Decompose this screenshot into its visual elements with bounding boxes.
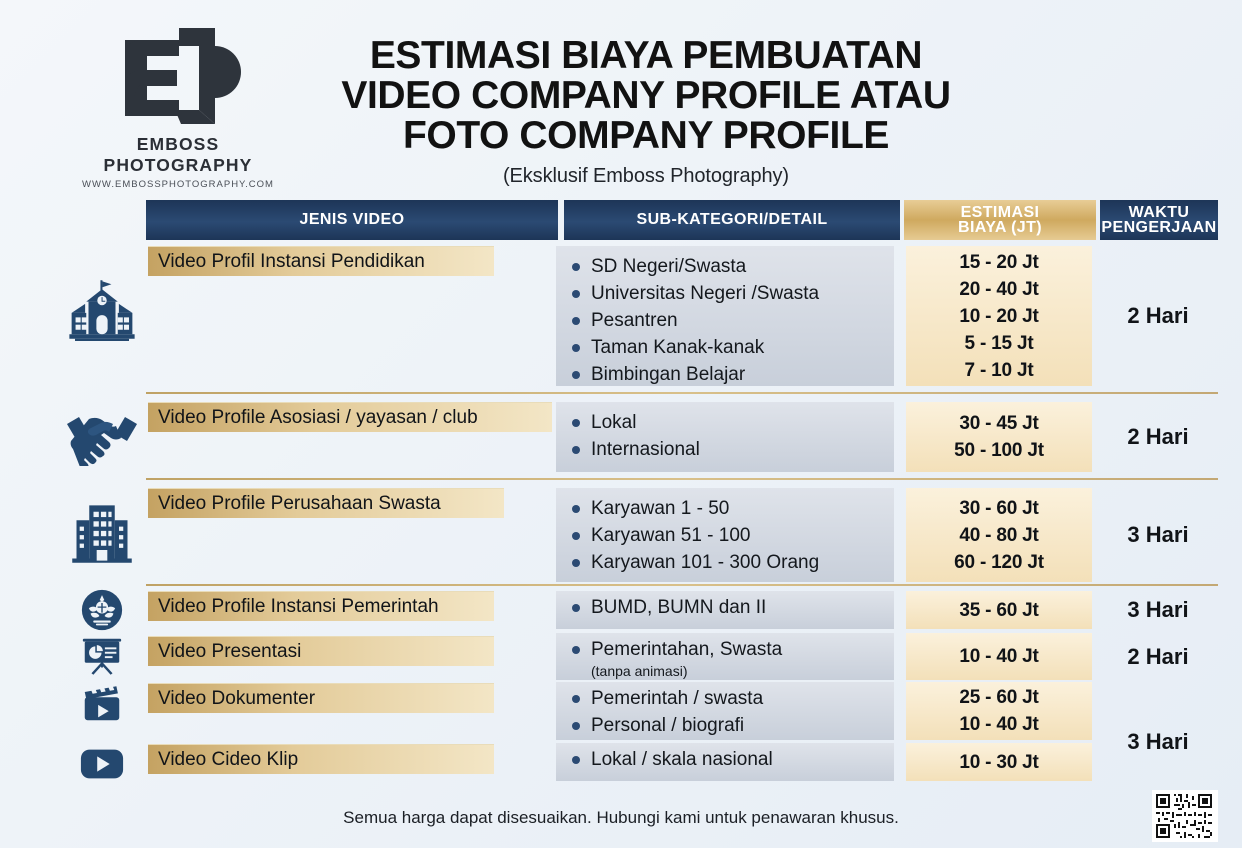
cost-value: 7 - 10 Jt <box>906 357 1092 384</box>
estimasi-biaya-cell: 10 - 40 Jt <box>906 633 1092 680</box>
estimasi-biaya-cell: 25 - 60 Jt 10 - 40 Jt <box>906 682 1092 740</box>
list-item: Karyawan 1 - 50 <box>556 495 894 522</box>
handshake-icon <box>62 404 142 470</box>
page-title-line-1: ESTIMASI BIAYA PEMBUATAN <box>296 36 996 76</box>
column-header-estimasi-line-1: ESTIMASI <box>961 205 1040 220</box>
footer-note: Semua harga dapat disesuaikan. Hubungi k… <box>0 808 1242 828</box>
bullet-icon <box>572 722 580 730</box>
list-item-label: Karyawan 101 - 300 Orang <box>591 549 819 576</box>
waktu-pengerjaan-cell: 3 Hari <box>1096 488 1220 582</box>
jenis-video-label: Video Dokumenter <box>148 683 494 713</box>
qr-code-icon[interactable] <box>1152 790 1218 842</box>
sub-kategori-list: BUMD, BUMN dan II <box>556 591 894 629</box>
list-item: Personal / biografi <box>556 712 894 739</box>
brand-url: WWW.EMBOSSPHOTOGRAPHY.COM <box>78 179 278 190</box>
list-item-label: Internasional <box>591 436 700 463</box>
list-item: Karyawan 101 - 300 Orang <box>556 549 894 576</box>
list-item: Lokal / skala nasional <box>556 746 894 773</box>
list-item: Internasional <box>556 436 894 463</box>
jenis-video-label: Video Profile Instansi Pemerintah <box>148 591 494 621</box>
sub-kategori-list: SD Negeri/Swasta Universitas Negeri /Swa… <box>556 246 894 386</box>
list-item: Bimbingan Belajar <box>556 361 894 388</box>
waktu-pengerjaan-cell: 2 Hari <box>1096 402 1220 472</box>
list-item-label: SD Negeri/Swasta <box>591 253 746 280</box>
bullet-icon <box>572 446 580 454</box>
list-item: Pemerintah / swasta <box>556 685 894 712</box>
waktu-pengerjaan-cell: 2 Hari <box>1096 633 1220 680</box>
title-block: ESTIMASI BIAYA PEMBUATAN VIDEO COMPANY P… <box>296 36 996 188</box>
table-row-instansi-pemerintah: Video Profile Instansi Pemerintah BUMD, … <box>0 590 1242 634</box>
estimasi-biaya-cell: 35 - 60 Jt <box>906 591 1092 629</box>
bullet-icon <box>572 371 580 379</box>
cost-value: 20 - 40 Jt <box>906 276 1092 303</box>
list-item-sublabel: (tanpa animasi) <box>591 663 782 679</box>
list-item: Karyawan 51 - 100 <box>556 522 894 549</box>
bullet-icon <box>572 317 580 325</box>
group-divider <box>146 478 1218 480</box>
waktu-pengerjaan-cell: 2 Hari <box>1096 246 1220 386</box>
column-header-estimasi-biaya: ESTIMASI BIAYA (JT) <box>904 200 1096 240</box>
column-header-waktu-line-1: WAKTU <box>1129 205 1190 220</box>
bullet-icon <box>572 290 580 298</box>
estimasi-biaya-cell: 30 - 60 Jt 40 - 80 Jt 60 - 120 Jt <box>906 488 1092 582</box>
jenis-video-label: Video Presentasi <box>148 636 494 666</box>
clapperboard-icon <box>62 679 142 727</box>
group-divider <box>146 392 1218 394</box>
list-item-label: Pemerintahan, Swasta <box>591 639 782 660</box>
list-item-label: Karyawan 51 - 100 <box>591 522 751 549</box>
table-row-group-asosiasi: Video Profile Asosiasi / yayasan / club … <box>0 400 1242 476</box>
infographic-header: EMBOSS PHOTOGRAPHY WWW.EMBOSSPHOTOGRAPHY… <box>0 0 1242 196</box>
cost-value: 10 - 30 Jt <box>906 749 1092 776</box>
cost-value: 10 - 20 Jt <box>906 303 1092 330</box>
school-building-icon <box>62 274 142 354</box>
column-header-estimasi-line-2: BIAYA (JT) <box>958 220 1042 235</box>
table-row-group-pendidikan: Video Profil Instansi Pendidikan SD Nege… <box>0 244 1242 390</box>
jenis-video-label: Video Profile Asosiasi / yayasan / club <box>148 402 552 432</box>
jenis-video-label: Video Profil Instansi Pendidikan <box>148 246 494 276</box>
emboss-bp-monogram-icon <box>103 22 253 132</box>
play-button-icon <box>62 742 142 786</box>
bullet-icon <box>572 263 580 271</box>
page-subtitle: (Eksklusif Emboss Photography) <box>296 165 996 188</box>
list-item-label: Lokal / skala nasional <box>591 746 773 773</box>
list-item: BUMD, BUMN dan II <box>556 594 894 621</box>
cost-value: 10 - 40 Jt <box>906 643 1092 670</box>
list-item: Universitas Negeri /Swasta <box>556 280 894 307</box>
table-row-cideo-klip: Video Cideo Klip Lokal / skala nasional … <box>0 742 1242 786</box>
cost-value: 10 - 40 Jt <box>906 711 1092 738</box>
list-item: Pesantren <box>556 307 894 334</box>
bullet-icon <box>572 695 580 703</box>
table-row-presentasi: Video Presentasi Pemerintahan, Swasta (t… <box>0 632 1242 680</box>
sub-kategori-list: Lokal / skala nasional <box>556 743 894 781</box>
list-item-label: Personal / biografi <box>591 712 744 739</box>
jenis-video-label: Video Profile Perusahaan Swasta <box>148 488 504 518</box>
jenis-video-label: Video Cideo Klip <box>148 744 494 774</box>
column-header-jenis-video: JENIS VIDEO <box>146 200 558 240</box>
group-divider <box>146 584 1218 586</box>
cost-value: 30 - 60 Jt <box>906 495 1092 522</box>
pricing-table: JENIS VIDEO SUB-KATEGORI/DETAIL ESTIMASI… <box>0 200 1242 240</box>
estimasi-biaya-cell: 30 - 45 Jt 50 - 100 Jt <box>906 402 1092 472</box>
sub-kategori-list: Pemerintahan, Swasta (tanpa animasi) <box>556 633 894 680</box>
estimasi-biaya-cell: 15 - 20 Jt 20 - 40 Jt 10 - 20 Jt 5 - 15 … <box>906 246 1092 386</box>
bullet-icon <box>572 419 580 427</box>
list-item-label: Lokal <box>591 409 636 436</box>
list-item: Pemerintahan, Swasta (tanpa animasi) <box>556 636 894 679</box>
cost-value: 5 - 15 Jt <box>906 330 1092 357</box>
sub-kategori-list: Karyawan 1 - 50 Karyawan 51 - 100 Karyaw… <box>556 488 894 582</box>
list-item-label: Universitas Negeri /Swasta <box>591 280 819 307</box>
estimasi-biaya-cell: 10 - 30 Jt <box>906 743 1092 781</box>
table-row-dokumenter: Video Dokumenter Pemerintah / swasta Per… <box>0 681 1242 741</box>
bullet-icon <box>572 532 580 540</box>
list-item-label: Karyawan 1 - 50 <box>591 495 729 522</box>
column-header-waktu-pengerjaan: WAKTU PENGERJAAN <box>1100 200 1218 240</box>
bullet-icon <box>572 559 580 567</box>
cost-value: 35 - 60 Jt <box>906 597 1092 624</box>
bullet-icon <box>572 646 580 654</box>
office-buildings-icon <box>62 494 142 572</box>
bullet-icon <box>572 505 580 513</box>
list-item-label: Taman Kanak-kanak <box>591 334 764 361</box>
bullet-icon <box>572 604 580 612</box>
column-header-waktu-line-2: PENGERJAAN <box>1101 220 1216 235</box>
sub-kategori-list: Lokal Internasional <box>556 402 894 472</box>
cost-value: 50 - 100 Jt <box>906 437 1092 464</box>
column-header-sub-kategori: SUB-KATEGORI/DETAIL <box>564 200 900 240</box>
cost-value: 40 - 80 Jt <box>906 522 1092 549</box>
list-item-label: Pesantren <box>591 307 678 334</box>
list-item: Lokal <box>556 409 894 436</box>
list-item-label: Pemerintah / swasta <box>591 685 763 712</box>
cost-value: 25 - 60 Jt <box>906 684 1092 711</box>
list-item: Taman Kanak-kanak <box>556 334 894 361</box>
list-item-label: Bimbingan Belajar <box>591 361 745 388</box>
cost-value: 15 - 20 Jt <box>906 249 1092 276</box>
bullet-icon <box>572 344 580 352</box>
waktu-pengerjaan-cell: 3 Hari <box>1096 591 1220 629</box>
sub-kategori-list: Pemerintah / swasta Personal / biografi <box>556 682 894 740</box>
cost-value: 60 - 120 Jt <box>906 549 1092 576</box>
brand-name: EMBOSS PHOTOGRAPHY <box>78 134 278 176</box>
brand-logo-block: EMBOSS PHOTOGRAPHY WWW.EMBOSSPHOTOGRAPHY… <box>78 22 278 190</box>
bullet-icon <box>572 756 580 764</box>
table-header-row: JENIS VIDEO SUB-KATEGORI/DETAIL ESTIMASI… <box>146 200 1218 240</box>
page-title-line-3: FOTO COMPANY PROFILE <box>296 116 996 156</box>
list-item: SD Negeri/Swasta <box>556 253 894 280</box>
list-item-label: BUMD, BUMN dan II <box>591 594 766 621</box>
table-row-group-perusahaan: Video Profile Perusahaan Swasta Karyawan… <box>0 486 1242 586</box>
page-title-line-2: VIDEO COMPANY PROFILE ATAU <box>296 76 996 116</box>
presentation-board-icon <box>62 632 142 680</box>
cost-value: 30 - 45 Jt <box>906 410 1092 437</box>
government-emblem-icon <box>62 588 142 632</box>
